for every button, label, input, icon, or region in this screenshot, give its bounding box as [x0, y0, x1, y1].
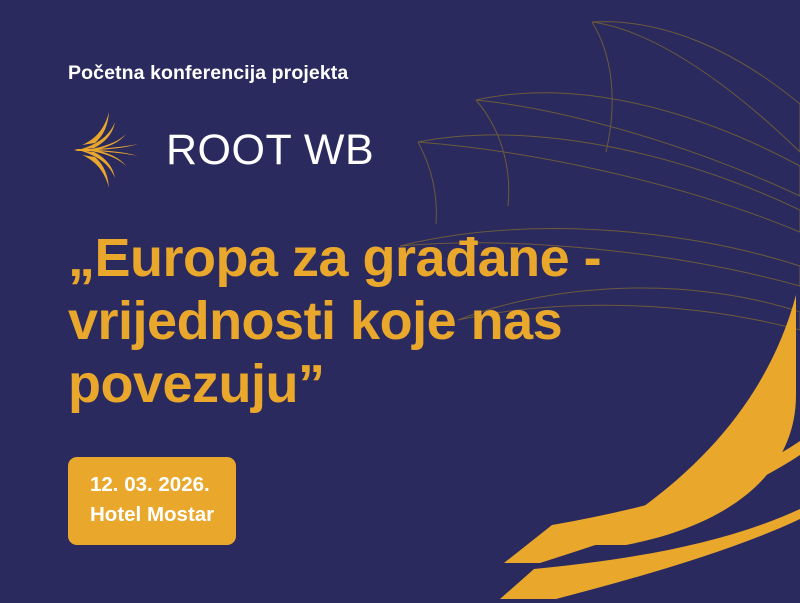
root-wb-leaf-icon [68, 109, 150, 191]
event-venue: Hotel Mostar [90, 500, 214, 530]
conference-announcement-poster: Početna konferencija projekta ROOT WB „E… [0, 0, 800, 603]
logo-wordmark: ROOT WB [166, 129, 374, 172]
logo-lockup: ROOT WB [68, 109, 800, 191]
event-details-badge: 12. 03. 2026. Hotel Mostar [68, 457, 236, 544]
page-title: „Europa za građane - vrijednosti koje na… [68, 227, 668, 415]
headline-line-3: povezuju” [68, 353, 668, 416]
headline-line-2: vrijednosti koje nas [68, 290, 668, 353]
headline-line-1: „Europa za građane - [68, 227, 668, 290]
event-date: 12. 03. 2026. [90, 470, 214, 500]
poster-content: Početna konferencija projekta ROOT WB „E… [0, 0, 800, 545]
kicker-text: Početna konferencija projekta [68, 0, 800, 85]
